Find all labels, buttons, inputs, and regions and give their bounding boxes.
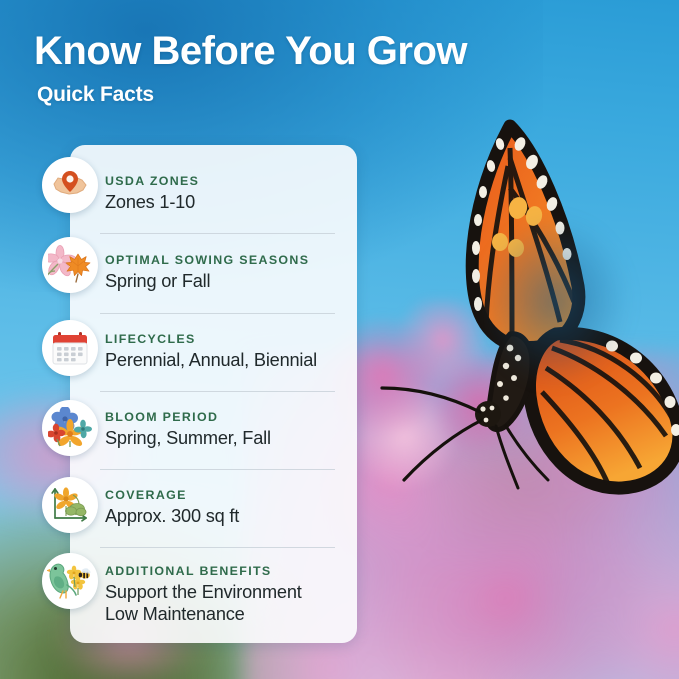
butterfly-shadow — [480, 216, 630, 386]
fact-label: USDA ZONES — [105, 174, 343, 188]
monarch-butterfly — [360, 96, 679, 496]
fact-value-secondary: Low Maintenance — [105, 603, 343, 625]
fact-value: Support the Environment — [105, 581, 343, 603]
calendar-icon — [42, 320, 98, 376]
fact-label: COVERAGE — [105, 488, 343, 502]
page-title: Know Before You Grow — [34, 30, 467, 73]
fact-value: Perennial, Annual, Biennial — [105, 349, 343, 371]
fact-row-coverage: COVERAGE Approx. 300 sq ft — [70, 469, 357, 547]
flowers-icon — [42, 400, 98, 456]
fact-row-additional-benefits: ADDITIONAL BENEFITS Support the Environm… — [70, 547, 357, 643]
product-infographic: Know Before You Grow Quick Facts USDA ZO… — [0, 0, 679, 679]
coverage-chart-icon — [42, 477, 98, 533]
fact-value: Approx. 300 sq ft — [105, 505, 343, 527]
blossom-maple-leaf-icon — [42, 237, 98, 293]
quick-facts-list: USDA ZONES Zones 1-10 OPTIMAL SOWING SEA… — [70, 145, 357, 643]
fact-value: Spring, Summer, Fall — [105, 427, 343, 449]
fact-label: BLOOM PERIOD — [105, 410, 343, 424]
header-block: Know Before You Grow Quick Facts — [34, 30, 467, 107]
fact-label: LIFECYCLES — [105, 332, 343, 346]
fact-row-lifecycles: LIFECYCLES Perennial, Annual, Biennial — [70, 313, 357, 391]
bird-bee-flower-icon — [42, 553, 98, 609]
fact-label: ADDITIONAL BENEFITS — [105, 564, 343, 578]
usa-map-pin-icon — [42, 157, 98, 213]
fact-row-usda-zones: USDA ZONES Zones 1-10 — [70, 155, 357, 233]
fact-row-optimal-sowing-seasons: OPTIMAL SOWING SEASONS Spring or Fall — [70, 233, 357, 313]
fact-value: Zones 1-10 — [105, 191, 343, 213]
fact-value: Spring or Fall — [105, 270, 343, 292]
page-subtitle: Quick Facts — [37, 83, 467, 107]
fact-row-bloom-period: BLOOM PERIOD Spring, Summer, Fall — [70, 391, 357, 469]
fact-label: OPTIMAL SOWING SEASONS — [105, 253, 343, 267]
